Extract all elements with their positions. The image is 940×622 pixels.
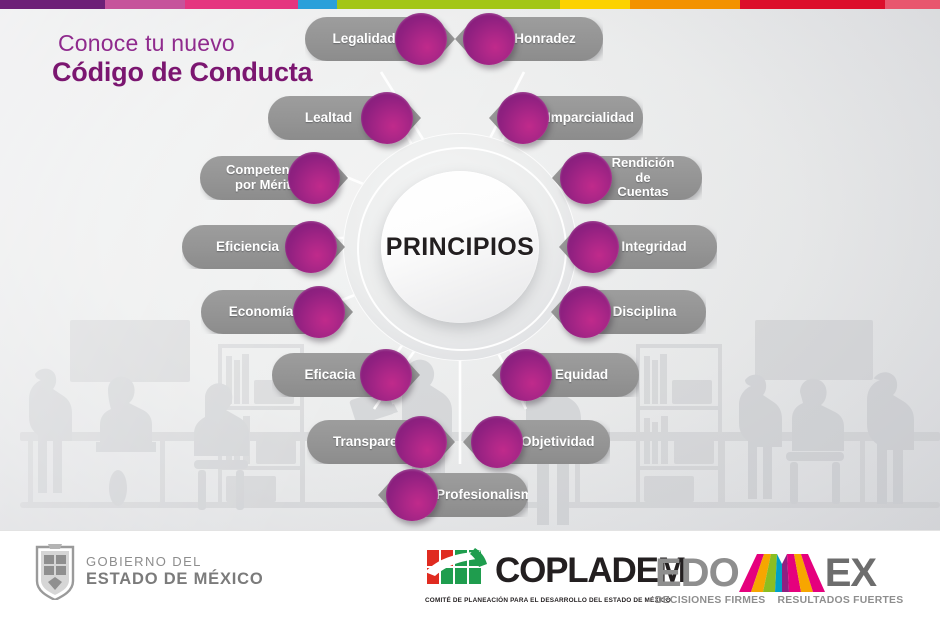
header-line-2: Código de Conducta: [52, 58, 312, 88]
topbar-segment-6: [630, 0, 740, 9]
gobierno-line-1: GOBIERNO DEL: [86, 555, 264, 570]
copladem-tagline: COMITÉ DE PLANEACIÓN PARA EL DESARROLLO …: [425, 597, 686, 604]
principle-badge-eficacia[interactable]: Eficacia: [272, 353, 420, 397]
edomex-rainbow-m-icon: [739, 548, 825, 592]
badge-node-circle: [293, 286, 345, 338]
principle-badge-economia[interactable]: Economía: [201, 290, 353, 334]
gobierno-edomex-logo: GOBIERNO DEL ESTADO DE MÉXICO: [34, 544, 264, 600]
topbar-segment-5: [560, 0, 630, 9]
badge-node-circle: [471, 416, 523, 468]
principle-badge-integridad[interactable]: Integridad: [559, 225, 717, 269]
hub-core: PRINCIPIOS: [381, 171, 539, 323]
principle-badge-equidad[interactable]: Equidad: [492, 353, 639, 397]
badge-node-circle: [360, 349, 412, 401]
badge-node-circle: [361, 92, 413, 144]
topbar-segment-1: [105, 0, 185, 9]
badge-node-circle: [288, 152, 340, 204]
principle-badge-eficiencia[interactable]: Eficiencia: [182, 225, 345, 269]
header-block: Conoce tu nuevo Código de Conducta: [52, 31, 312, 88]
badge-node-circle: [560, 152, 612, 204]
edomex-sub-1: DECISIONES FIRMES: [655, 595, 765, 606]
topbar-segment-7: [740, 0, 885, 9]
copladem-mark-icon: [425, 548, 491, 592]
principle-badge-honradez[interactable]: Honradez: [455, 17, 603, 61]
center-hub: PRINCIPIOS: [343, 155, 577, 339]
footer-bar: GOBIERNO DEL ESTADO DE MÉXICO: [0, 530, 940, 622]
edomex-part-2: EX: [825, 554, 876, 592]
top-color-bar: [0, 0, 940, 9]
principle-badge-imparcialidad[interactable]: Imparcialidad: [489, 96, 643, 140]
principle-badge-lealtad[interactable]: Lealtad: [268, 96, 421, 140]
principle-badge-profesionalismo[interactable]: Profesionalismo: [378, 473, 528, 517]
footer-divider: [0, 530, 940, 531]
topbar-segment-8: [885, 0, 940, 9]
principle-badge-transparencia[interactable]: Transparencia: [307, 420, 455, 464]
gobierno-line-2: ESTADO DE MÉXICO: [86, 570, 264, 589]
badge-node-circle: [497, 92, 549, 144]
header-line-1: Conoce tu nuevo: [58, 31, 312, 56]
topbar-segment-4: [337, 0, 560, 9]
badge-node-circle: [559, 286, 611, 338]
edomex-sub-2: RESULTADOS FUERTES: [777, 595, 903, 606]
principle-badge-legalidad[interactable]: Legalidad: [305, 17, 455, 61]
edomex-part-1: EDO: [655, 554, 739, 592]
badge-label: Competencia por Mérito: [200, 163, 366, 192]
principle-badge-objetividad[interactable]: Objetividad: [463, 420, 610, 464]
topbar-segment-2: [185, 0, 298, 9]
coat-of-arms-icon: [34, 544, 76, 600]
topbar-segment-0: [0, 0, 105, 9]
badge-node-circle: [395, 13, 447, 65]
principle-badge-disciplina[interactable]: Disciplina: [551, 290, 706, 334]
badge-node-circle: [500, 349, 552, 401]
badge-node-circle: [285, 221, 337, 273]
badge-node-circle: [567, 221, 619, 273]
badge-node-circle: [463, 13, 515, 65]
diagram-canvas: PRINCIPIOS LegalidadHonradezLealtadImpar…: [0, 9, 940, 530]
copladem-logo: COPLADEM COMITÉ DE PLANEACIÓN PARA EL DE…: [425, 548, 686, 604]
principle-badge-rendicion[interactable]: Rendición de Cuentas: [552, 156, 702, 200]
infographic-page: PRINCIPIOS LegalidadHonradezLealtadImpar…: [0, 0, 940, 622]
principle-badge-competencia[interactable]: Competencia por Mérito: [200, 156, 348, 200]
topbar-segment-3: [298, 0, 337, 9]
badge-node-circle: [386, 469, 438, 521]
hub-label: PRINCIPIOS: [386, 233, 534, 262]
badge-node-circle: [395, 416, 447, 468]
edomex-logo: EDO EX DECISIONES FIRMES RESULTADOS FUER…: [655, 548, 903, 606]
